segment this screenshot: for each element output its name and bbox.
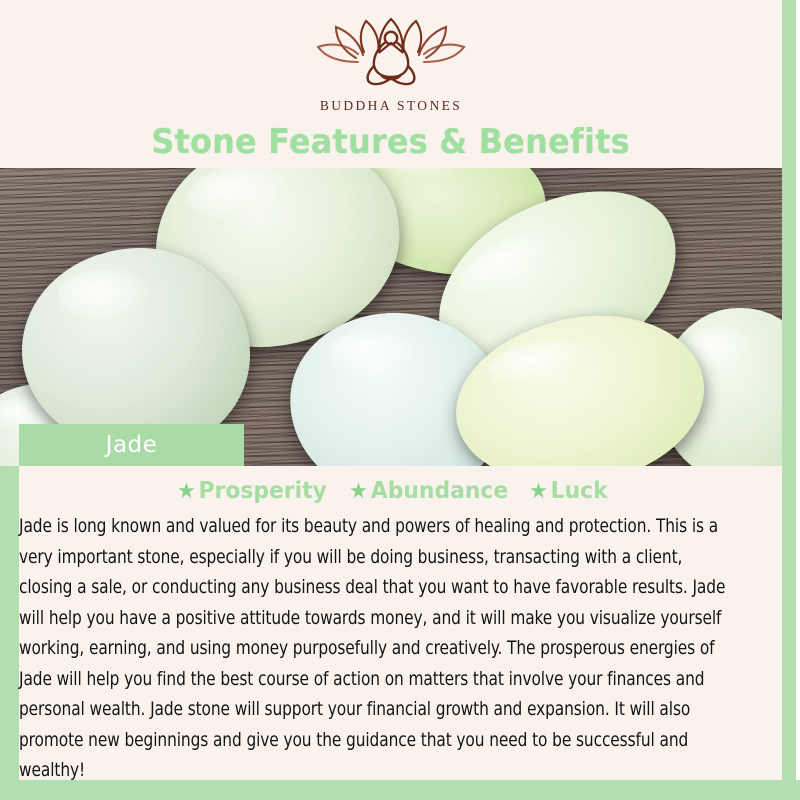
- white-edge-right: [796, 0, 800, 800]
- star-icon: ★: [349, 479, 368, 504]
- green-frame-left: [0, 418, 19, 800]
- brand-logo: BUDDHA STONES: [306, 14, 476, 114]
- benefit-label: Prosperity: [198, 478, 326, 504]
- lotus-meditation-icon: [306, 14, 476, 92]
- benefit-prosperity: ★Prosperity: [177, 478, 327, 504]
- stone-name-banner: Jade: [19, 424, 244, 466]
- benefits-row: ★Prosperity ★Abundance ★Luck: [0, 478, 782, 504]
- benefit-abundance: ★Abundance: [349, 478, 508, 504]
- star-icon: ★: [177, 479, 196, 504]
- star-icon: ★: [529, 479, 548, 504]
- page-title: Stone Features & Benefits: [152, 122, 631, 162]
- description-paragraph: Jade is long known and valued for its be…: [19, 512, 727, 787]
- green-frame-right: [782, 0, 796, 800]
- benefit-label: Luck: [550, 478, 607, 504]
- stone-name-label: Jade: [106, 432, 158, 458]
- brand-name: BUDDHA STONES: [320, 98, 462, 114]
- description-block: Jade is long known and valued for its be…: [19, 512, 782, 787]
- poster-root: BUDDHA STONES Stone Features & Benefits …: [0, 0, 800, 800]
- page-title-band: Stone Features & Benefits: [0, 122, 782, 162]
- jade-stones-photo: [0, 168, 782, 466]
- benefit-label: Abundance: [371, 478, 508, 504]
- benefit-luck: ★Luck: [529, 478, 608, 504]
